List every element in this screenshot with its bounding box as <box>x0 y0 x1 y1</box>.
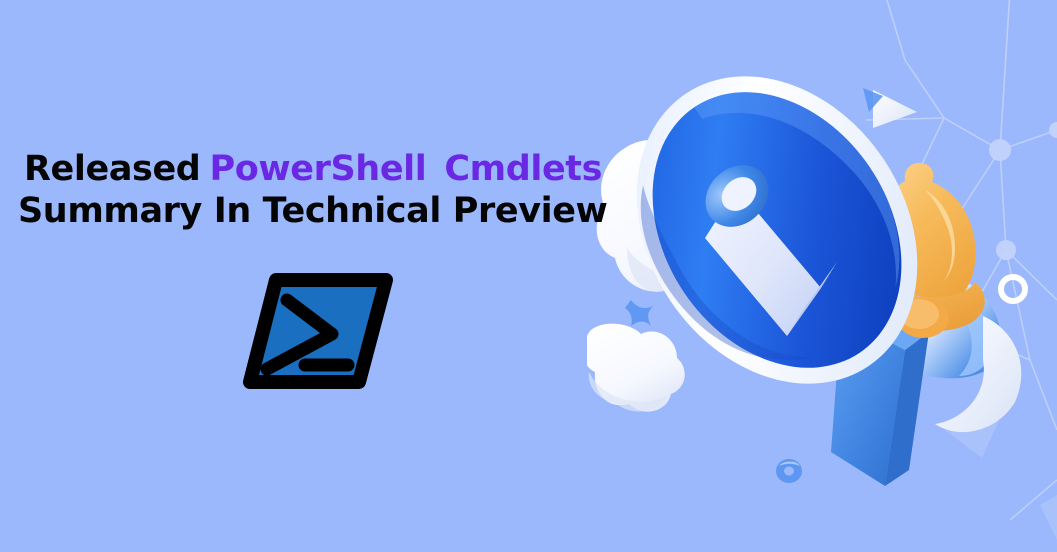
cloud-small <box>587 324 685 412</box>
shard-white-back <box>935 316 1021 432</box>
megaphone-cone <box>587 22 975 437</box>
ring-white <box>1001 277 1025 301</box>
torus-small <box>776 459 802 483</box>
headline-word-cmdlets: Cmdlets <box>444 149 602 189</box>
megaphone-inner-tube <box>693 152 837 336</box>
shard-blue <box>863 88 883 112</box>
headline-word-released: Released <box>24 149 200 189</box>
shard-white <box>873 90 917 128</box>
megaphone-announcement-illustration <box>587 0 1057 552</box>
megaphone-handle <box>831 254 929 486</box>
notification-bell <box>858 163 985 338</box>
banner: ReleasedPowerShellCmdlets Summary In Tec… <box>0 0 1057 552</box>
headline-line-1: ReleasedPowerShellCmdlets <box>18 148 618 190</box>
powershell-logo <box>243 272 393 390</box>
network-mesh <box>0 0 1057 552</box>
megaphone-body <box>824 238 1001 378</box>
headline-block: ReleasedPowerShellCmdlets Summary In Tec… <box>18 148 618 232</box>
cloud-large <box>597 140 767 296</box>
sparkle-star <box>625 300 653 326</box>
headline-word-powershell: PowerShell <box>209 149 426 189</box>
page-title: ReleasedPowerShellCmdlets Summary In Tec… <box>18 148 618 232</box>
headline-line-2: Summary In Technical Preview <box>18 190 618 232</box>
